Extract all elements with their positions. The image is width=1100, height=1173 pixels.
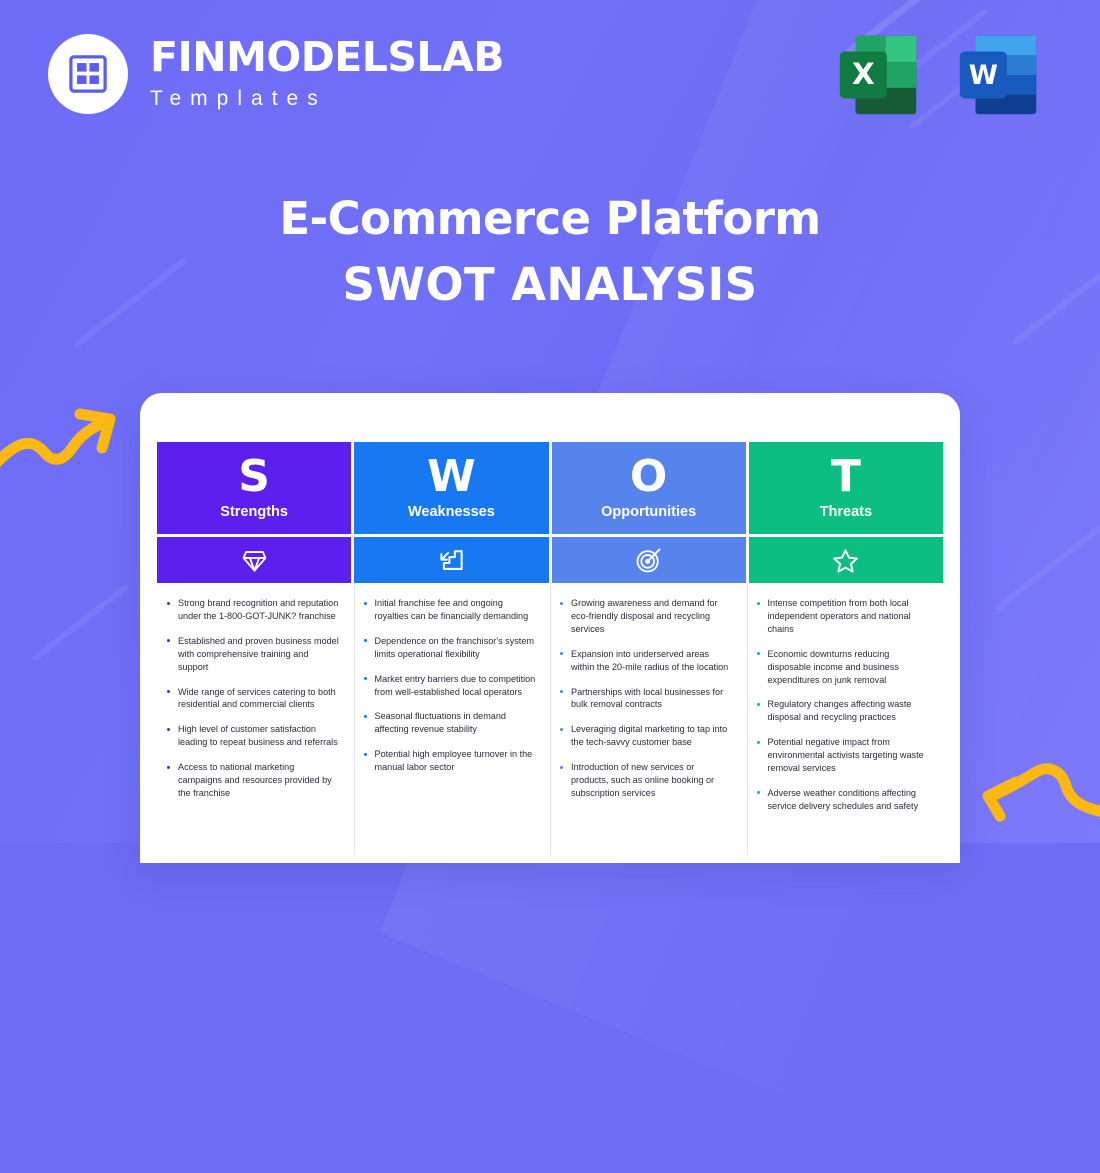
list-item: Introduction of new services or products…: [558, 761, 733, 800]
swot-header-weaknesses[interactable]: W Weaknesses: [354, 442, 548, 534]
grid-squares-icon: [69, 55, 107, 93]
swot-icon-cell-weaknesses: [354, 537, 548, 583]
excel-icon[interactable]: X: [830, 26, 928, 124]
brand-tagline: Templates: [150, 87, 504, 111]
swot-icon-cell-threats: [749, 537, 943, 583]
list-item: Economic downturns reducing disposable i…: [755, 648, 930, 687]
swot-label: Threats: [820, 504, 872, 520]
page-title-line1: E-Commerce Platform: [0, 192, 1100, 245]
title-block: E-Commerce Platform SWOT ANALYSIS: [0, 192, 1100, 311]
swot-letter: W: [427, 456, 476, 498]
word-icon[interactable]: W: [950, 26, 1048, 124]
swot-letter: S: [238, 456, 270, 498]
swot-icon-row: [157, 537, 943, 583]
swot-body-weaknesses: Initial franchise fee and ongoing royalt…: [354, 597, 551, 825]
wavy-arrow-down-left-icon: [978, 752, 1100, 840]
list-item: Adverse weather conditions affecting ser…: [755, 787, 930, 813]
swot-body-strengths: Strong brand recognition and reputation …: [157, 597, 354, 825]
star-icon: [832, 547, 859, 574]
list-item: Initial franchise fee and ongoing royalt…: [362, 597, 537, 623]
page-header: FINMODELSLAB Templates X: [0, 0, 1100, 160]
swot-bullet-list: Growing awareness and demand for eco-fri…: [558, 597, 733, 800]
swot-letter: O: [630, 456, 667, 498]
swot-bullet-list: Intense competition from both local inde…: [755, 597, 930, 813]
brand-logo[interactable]: FINMODELSLAB Templates: [48, 34, 504, 114]
swot-bullet-list: Initial franchise fee and ongoing royalt…: [362, 597, 537, 774]
logo-circle: [48, 34, 128, 114]
swot-card: S Strengths W Weaknesses O Opportunities…: [140, 393, 960, 863]
list-item: Seasonal fluctuations in demand affectin…: [362, 710, 537, 736]
list-item: Dependence on the franchisor's system li…: [362, 635, 537, 661]
office-icons-group: X W: [830, 26, 1048, 124]
list-item: Strong brand recognition and reputation …: [165, 597, 340, 623]
list-item: High level of customer satisfaction lead…: [165, 723, 340, 749]
list-item: Market entry barriers due to competition…: [362, 673, 537, 699]
swot-body-opportunities: Growing awareness and demand for eco-fri…: [550, 597, 747, 825]
list-item: Potential negative impact from environme…: [755, 736, 930, 775]
svg-text:W: W: [969, 60, 998, 91]
list-item: Access to national marketing campaigns a…: [165, 761, 340, 800]
diamond-icon: [241, 547, 268, 574]
swot-label: Weaknesses: [408, 504, 495, 520]
swot-header-opportunities[interactable]: O Opportunities: [552, 442, 746, 534]
swot-header-row: S Strengths W Weaknesses O Opportunities…: [157, 442, 943, 534]
swot-icon-cell-opportunities: [552, 537, 746, 583]
list-item: Potential high employee turnover in the …: [362, 748, 537, 774]
list-item: Growing awareness and demand for eco-fri…: [558, 597, 733, 636]
swot-bullet-list: Strong brand recognition and reputation …: [165, 597, 340, 800]
list-item: Expansion into underserved areas within …: [558, 648, 733, 674]
svg-text:X: X: [852, 57, 875, 91]
brand-name: FINMODELSLAB: [150, 37, 504, 78]
wavy-arrow-up-right-icon: [0, 398, 124, 486]
list-item: Wide range of services catering to both …: [165, 686, 340, 712]
swot-body-threats: Intense competition from both local inde…: [747, 597, 944, 825]
descending-stairs-icon: [438, 547, 465, 574]
list-item: Regulatory changes affecting waste dispo…: [755, 698, 930, 724]
page-title-line2: SWOT ANALYSIS: [0, 258, 1100, 311]
list-item: Intense competition from both local inde…: [755, 597, 930, 636]
swot-header-strengths[interactable]: S Strengths: [157, 442, 351, 534]
swot-matrix: S Strengths W Weaknesses O Opportunities…: [157, 442, 943, 825]
swot-header-threats[interactable]: T Threats: [749, 442, 943, 534]
swot-icon-cell-strengths: [157, 537, 351, 583]
list-item: Partnerships with local businesses for b…: [558, 686, 733, 712]
list-item: Leveraging digital marketing to tap into…: [558, 723, 733, 749]
swot-letter: T: [831, 456, 861, 498]
list-item: Established and proven business model wi…: [165, 635, 340, 674]
swot-body-row: Strong brand recognition and reputation …: [157, 597, 943, 825]
target-icon: [635, 547, 662, 574]
swot-label: Opportunities: [601, 504, 696, 520]
swot-label: Strengths: [220, 504, 288, 520]
